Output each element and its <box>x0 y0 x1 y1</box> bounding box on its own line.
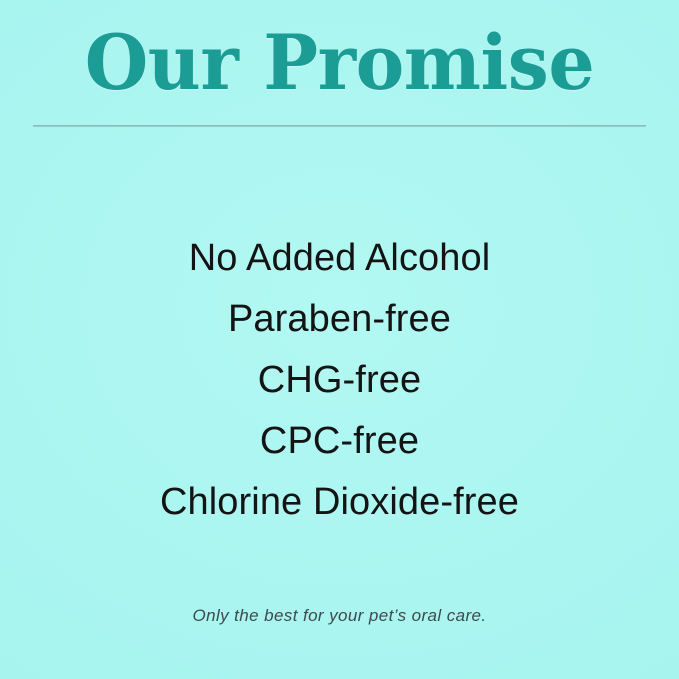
list-item: No Added Alcohol <box>0 228 679 289</box>
title-divider <box>33 125 646 127</box>
header-block: Our Promise <box>0 0 679 135</box>
page-title: Our Promise <box>14 22 666 104</box>
list-item: CPC-free <box>0 411 679 472</box>
promise-list: No Added Alcohol Paraben-free CHG-free C… <box>0 228 679 533</box>
list-item: Chlorine Dioxide-free <box>0 472 679 533</box>
list-item: CHG-free <box>0 350 679 411</box>
promise-card: Our Promise No Added Alcohol Paraben-fre… <box>0 0 679 679</box>
list-item: Paraben-free <box>0 289 679 350</box>
footer-tagline: Only the best for your pet’s oral care. <box>0 606 679 626</box>
